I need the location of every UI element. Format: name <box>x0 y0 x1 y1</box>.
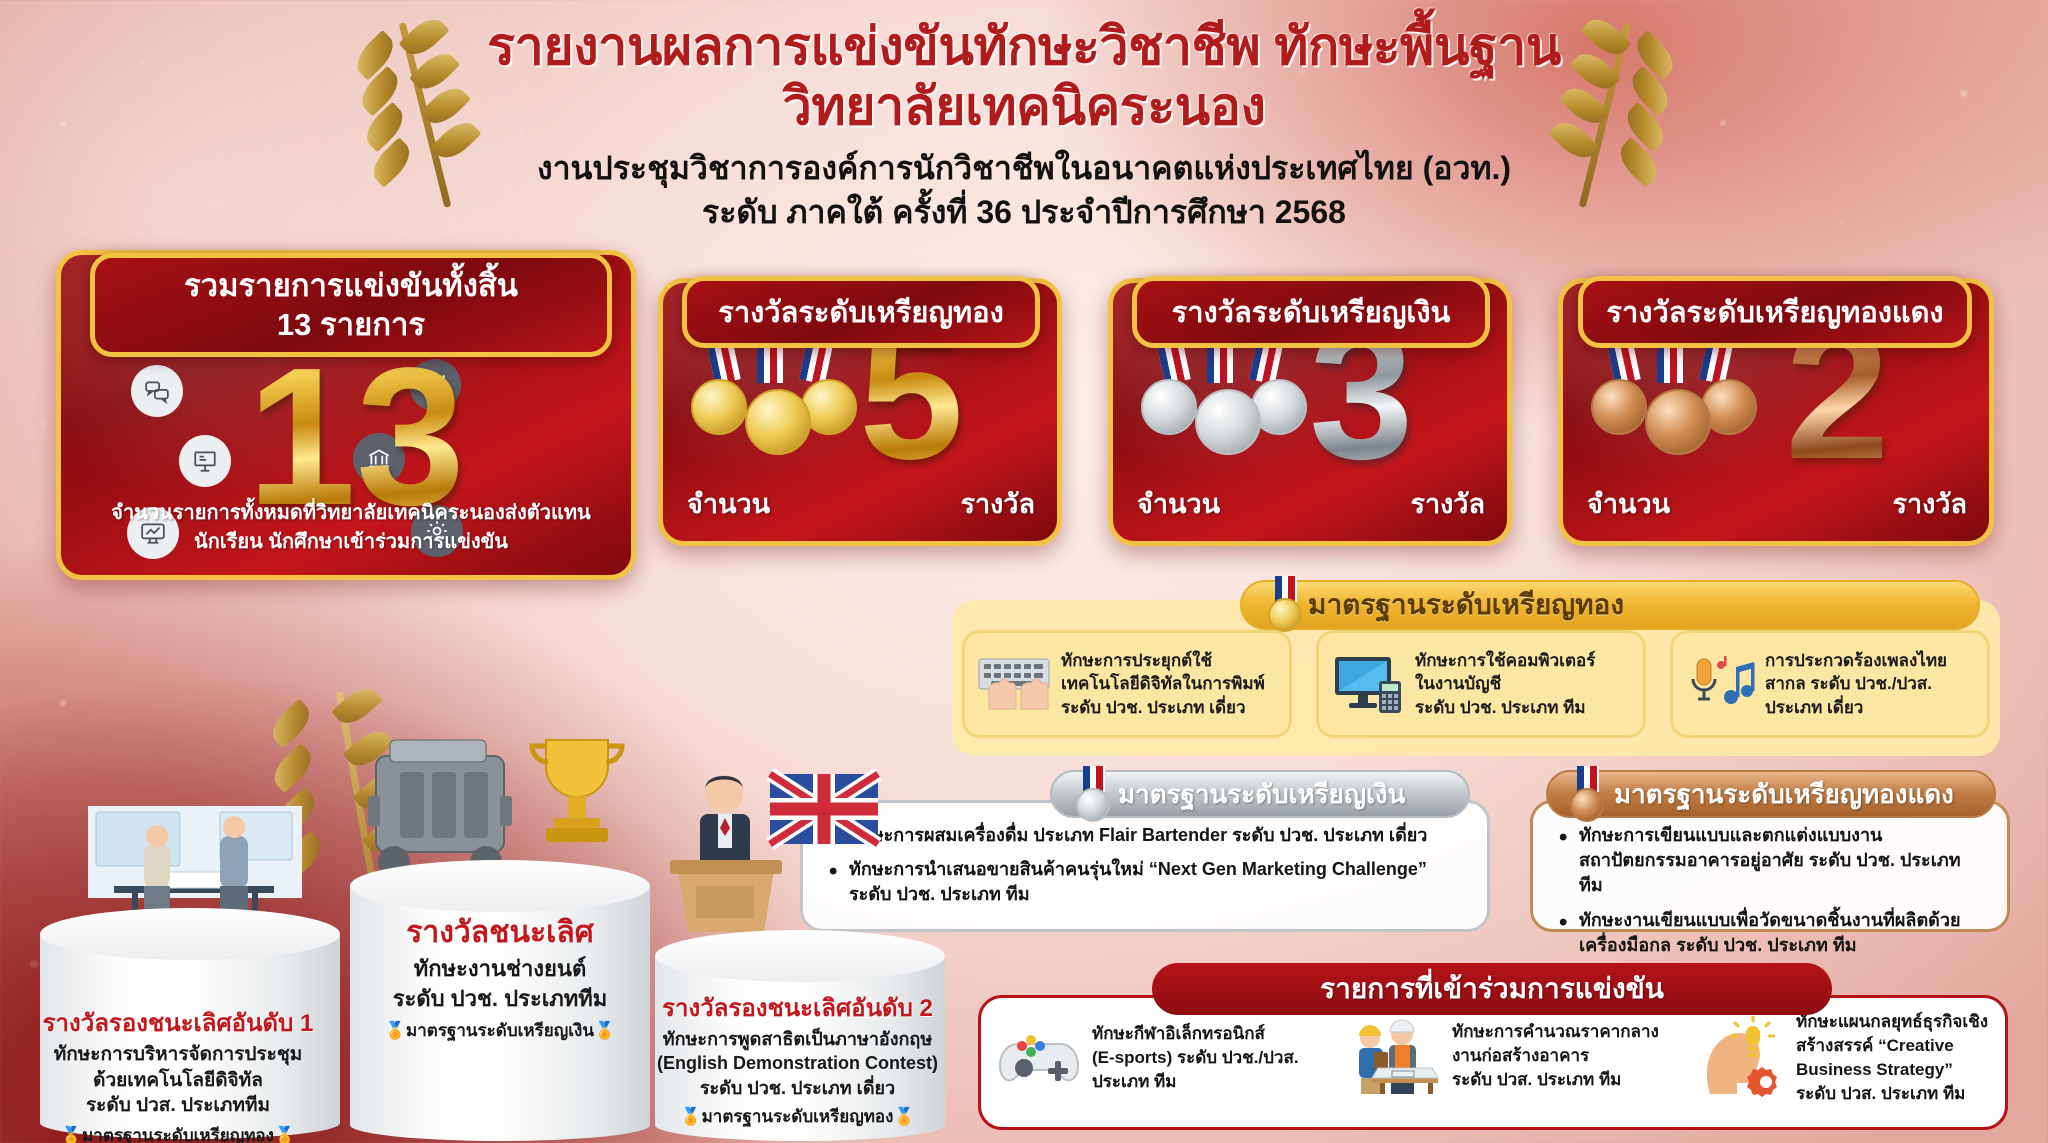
entered-item-2-line-2: งานก่อสร้างอาคาร <box>1452 1044 1659 1068</box>
entered-item-1-line-1: ทักษะกีฬาอิเล็กทรอนิกส์ <box>1092 1022 1299 1046</box>
bronze-left-label: จำนวน <box>1587 482 1670 525</box>
entered-item-3-line-1: ทักษะแผนกลยุทธ์ธุรกิจเชิง <box>1796 1010 1988 1034</box>
gold-item-3: การประกวดร้องเพลงไทย สากล ระดับ ปวช./ปวส… <box>1670 630 1990 738</box>
gold-standard-heading-text: มาตรฐานระดับเหรียญทอง <box>1308 583 1624 627</box>
podium-first-caption: รางวัลชนะเลิศ ทักษะงานช่างยนต์ ระดับ ปวช… <box>330 915 670 1044</box>
gold-item-3-line-2: สากล ระดับ ปวช./ปวส. <box>1765 672 1947 695</box>
summary-caption: จำนวนรายการทั้งหมดที่วิทยาลัยเทคนิคระนอง… <box>75 499 627 557</box>
list-item: ทักษะการนำเสนอขายสินค้าคนรุ่นใหม่ “Next … <box>825 857 1465 907</box>
bronze-standard-heading-text: มาตรฐานระดับเหรียญทองแดง <box>1614 774 1954 815</box>
podium-second-caption: รางวัลรองชนะเลิศอันดับ 1 ทักษะการบริหารจ… <box>18 1010 338 1143</box>
entered-item-2-line-1: ทักษะการคำนวณราคากลาง <box>1452 1020 1659 1044</box>
podium-third-title: รางวัลรองชนะเลิศอันดับ 2 <box>625 995 970 1024</box>
chat-bubbles-icon <box>131 365 183 417</box>
gold-standard-heading: มาตรฐานระดับเหรียญทอง <box>1240 580 1980 630</box>
medal-card-gold-title: รางวัลระดับเหรียญทอง <box>682 276 1040 348</box>
keyboard-typing-icon <box>977 655 1051 713</box>
gold-item-2-line-3: ระดับ ปวช. ประเภท ทีม <box>1415 696 1595 719</box>
silver-left-label: จำนวน <box>1137 482 1220 525</box>
podium-third-caption: รางวัลรองชนะเลิศอันดับ 2 ทักษะการพูดสาธิ… <box>625 995 970 1130</box>
list-item: ทักษะการเขียนแบบและตกแต่งแบบงานสถาปัตยกร… <box>1555 823 1985 899</box>
gold-item-1-line-3: ระดับ ปวช. ประเภท เดี่ยว <box>1061 696 1265 719</box>
page-header: รายงานผลการแข่งขันทักษะวิชาชีพ ทักษะพื้น… <box>0 18 2048 234</box>
medal-card-bronze-title: รางวัลระดับเหรียญทองแดง <box>1578 276 1972 348</box>
game-controller-icon <box>998 1028 1080 1088</box>
page-title-line-2: วิทยาลัยเทคนิคระนอง <box>0 78 2048 136</box>
medal-card-silver-title: รางวัลระดับเหรียญเงิน <box>1132 276 1490 348</box>
podium-first-line-2: ระดับ ปวช. ประเภททีม <box>330 984 670 1014</box>
silver-standard-list: ทักษะการผสมเครื่องดื่ม ประเภท Flair Bart… <box>825 823 1465 908</box>
gold-right-label: รางวัล <box>960 482 1035 525</box>
bronze-medal-icon <box>1570 766 1610 826</box>
bronze-standard-heading: มาตรฐานระดับเหรียญทองแดง <box>1546 770 1996 818</box>
gold-item-1-line-1: ทักษะการประยุกต์ใช้ <box>1061 649 1265 672</box>
gold-title-text: รางวัลระดับเหรียญทอง <box>718 289 1003 335</box>
entered-item-2-line-3: ระดับ ปวส. ประเภท ทีม <box>1452 1068 1659 1092</box>
list-item: ทักษะงานเขียนแบบเพื่อวัดขนาดชิ้นงานที่ผล… <box>1555 908 1985 958</box>
silver-medal-icon <box>1076 766 1116 826</box>
podium-first-line-1: ทักษะงานช่างยนต์ <box>330 954 670 984</box>
summary-caption-line-2: นักเรียน นักศึกษาเข้าร่วมการแข่งขัน <box>75 528 627 557</box>
podium-third-line-3: ระดับ ปวช. ประเภท เดี่ยว <box>625 1076 970 1100</box>
podium-third-line-1: ทักษะการพูดสาธิตเป็นภาษาอังกฤษ <box>625 1027 970 1051</box>
entered-item-2: ทักษะการคำนวณราคากลาง งานก่อสร้างอาคาร ร… <box>1348 1018 1688 1094</box>
gold-left-label: จำนวน <box>687 482 770 525</box>
entered-item-1-line-3: ประเภท ทีม <box>1092 1070 1299 1094</box>
gold-item-1-text: ทักษะการประยุกต์ใช้ เทคโนโลยีดิจิทัลในกา… <box>1061 649 1265 719</box>
entered-item-3-line-2: สร้างสรรค์ “Creative <box>1796 1034 1988 1058</box>
silver-standard-body: ทักษะการผสมเครื่องดื่ม ประเภท Flair Bart… <box>800 800 1490 932</box>
gold-item-2: ทักษะการใช้คอมพิวเตอร์ ในงานบัญชี ระดับ … <box>1316 630 1646 738</box>
entered-item-3-line-4: ระดับ ปวส. ประเภท ทีม <box>1796 1082 1988 1106</box>
podium-second-line-2: ด้วยเทคโนโลยีดิจิทัล <box>18 1068 338 1094</box>
entered-item-1: ทักษะกีฬาอิเล็กทรอนิกส์ (E-sports) ระดับ… <box>998 1022 1328 1094</box>
page-title-line-1: รายงานผลการแข่งขันทักษะวิชาชีพ ทักษะพื้น… <box>0 18 2048 76</box>
construction-workers-icon <box>1348 1018 1440 1094</box>
podium-second-line-3: ระดับ ปวส. ประเภททีม <box>18 1093 338 1119</box>
presentation-money-icon <box>179 435 231 487</box>
podium-second-title: รางวัลรองชนะเลิศอันดับ 1 <box>18 1010 338 1039</box>
summary-card-title: รวมรายการแข่งขันทั้งสิ้น 13 รายการ <box>90 253 612 357</box>
gold-item-1: ทักษะการประยุกต์ใช้ เทคโนโลยีดิจิทัลในกา… <box>962 630 1292 738</box>
microphone-music-icon <box>1685 653 1755 715</box>
bronze-standard-list: ทักษะการเขียนแบบและตกแต่งแบบงานสถาปัตยกร… <box>1555 823 1985 958</box>
gold-item-2-line-1: ทักษะการใช้คอมพิวเตอร์ <box>1415 649 1595 672</box>
entered-item-3-line-3: Business Strategy” <box>1796 1058 1988 1082</box>
podium-second-line-1: ทักษะการบริหารจัดการประชุม <box>18 1042 338 1068</box>
entered-item-2-text: ทักษะการคำนวณราคากลาง งานก่อสร้างอาคาร ร… <box>1452 1020 1659 1092</box>
podium-third-standard: 🏅มาตรฐานระดับเหรียญทอง🏅 <box>625 1103 970 1130</box>
entered-list-heading: รายการที่เข้าร่วมการแข่งขัน <box>1152 963 1832 1015</box>
podium-first-standard: 🏅มาตรฐานระดับเหรียญเงิน🏅 <box>330 1017 670 1044</box>
entered-item-1-line-2: (E-sports) ระดับ ปวช./ปวส. <box>1092 1046 1299 1070</box>
podium-third-line-2: (English Demonstration Contest) <box>625 1051 970 1075</box>
summary-card-title-line-2: 13 รายการ <box>277 305 425 344</box>
entered-item-3-text: ทักษะแผนกลยุทธ์ธุรกิจเชิง สร้างสรรค์ “Cr… <box>1796 1010 1988 1107</box>
gold-item-3-line-1: การประกวดร้องเพลงไทย <box>1765 649 1947 672</box>
summary-card-title-line-1: รวมรายการแข่งขันทั้งสิ้น <box>184 266 518 305</box>
entered-item-1-text: ทักษะกีฬาอิเล็กทรอนิกส์ (E-sports) ระดับ… <box>1092 1022 1299 1094</box>
gold-item-2-line-2: ในงานบัญชี <box>1415 672 1595 695</box>
idea-head-gear-icon <box>1700 1016 1784 1100</box>
podium-second-standard: 🏅มาตรฐานระดับเหรียญทอง🏅 <box>18 1122 338 1143</box>
podium-first-title: รางวัลชนะเลิศ <box>330 915 670 951</box>
summary-caption-line-1: จำนวนรายการทั้งหมดที่วิทยาลัยเทคนิคระนอง… <box>75 499 627 528</box>
desktop-calculator-icon <box>1331 653 1405 715</box>
gold-item-2-text: ทักษะการใช้คอมพิวเตอร์ ในงานบัญชี ระดับ … <box>1415 649 1595 719</box>
silver-standard-heading-text: มาตรฐานระดับเหรียญเงิน <box>1118 774 1405 815</box>
page-subtitle-line-2: ระดับ ภาคใต้ ครั้งที่ 36 ประจำปีการศึกษา… <box>0 192 2048 234</box>
bronze-right-label: รางวัล <box>1892 482 1967 525</box>
bronze-title-text: รางวัลระดับเหรียญทองแดง <box>1606 289 1943 335</box>
gold-item-1-line-2: เทคโนโลยีดิจิทัลในการพิมพ์ <box>1061 672 1265 695</box>
silver-right-label: รางวัล <box>1410 482 1485 525</box>
gold-item-3-line-3: ประเภท เดี่ยว <box>1765 696 1947 719</box>
list-item: ทักษะการผสมเครื่องดื่ม ประเภท Flair Bart… <box>825 823 1465 848</box>
entered-list-heading-text: รายการที่เข้าร่วมการแข่งขัน <box>1320 967 1664 1011</box>
gold-item-3-text: การประกวดร้องเพลงไทย สากล ระดับ ปวช./ปวส… <box>1765 649 1947 719</box>
entered-item-3: ทักษะแผนกลยุทธ์ธุรกิจเชิง สร้างสรรค์ “Cr… <box>1700 1010 2010 1107</box>
gold-medal-icon <box>1268 576 1308 636</box>
page-subtitle-line-1: งานประชุมวิชาการองค์การนักวิชาชีพในอนาคต… <box>0 148 2048 190</box>
silver-title-text: รางวัลระดับเหรียญเงิน <box>1172 289 1451 335</box>
podium-third-illustration <box>640 760 900 940</box>
